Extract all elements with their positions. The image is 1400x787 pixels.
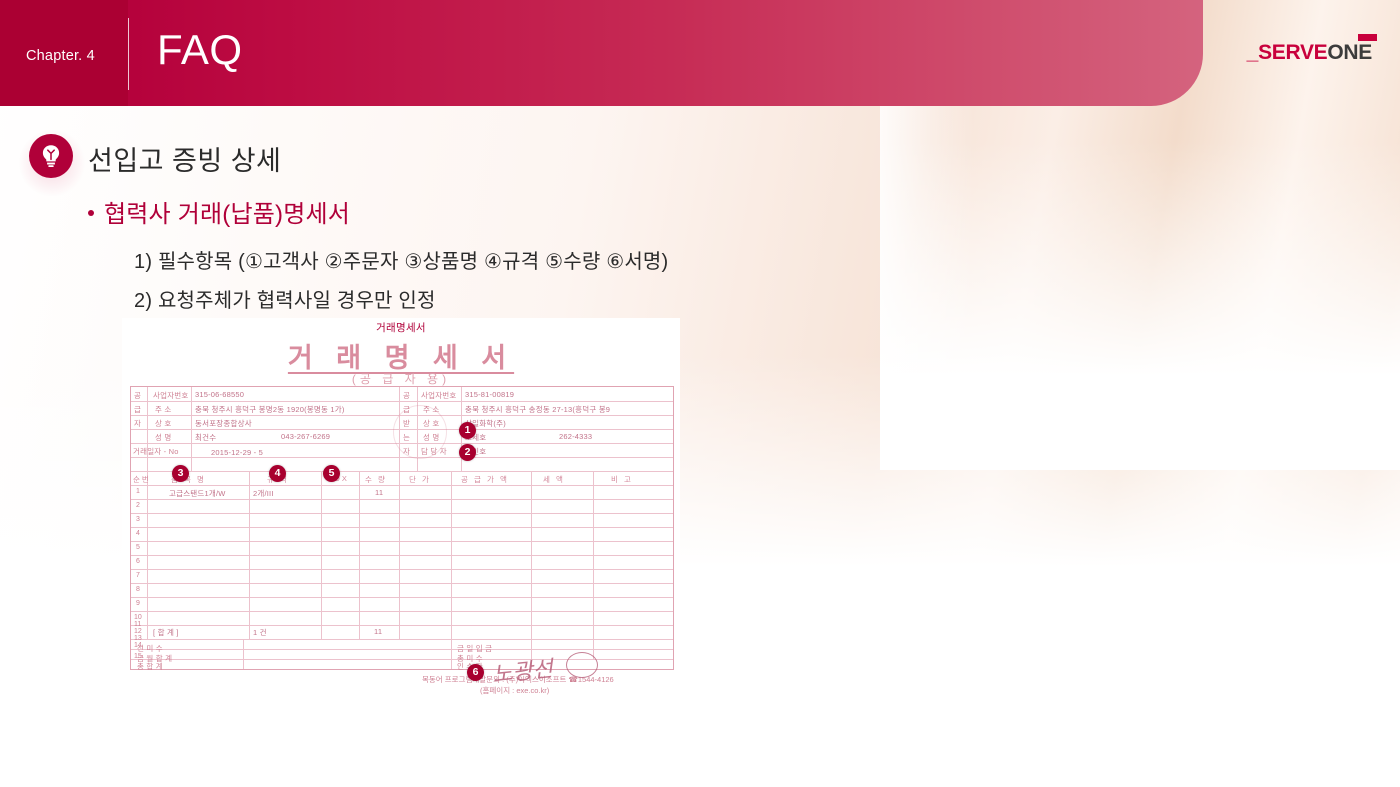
logo-underscore: _ — [1247, 41, 1258, 64]
transaction-statement-image: 거래명세서 거 래 명 세 서 (공 급 자 용) — [122, 318, 680, 716]
sub-item-condition: 2) 요청주체가 협력사일 경우만 인정 — [134, 284, 436, 313]
bullet-label: 협력사 거래(납품)명세서 — [104, 194, 350, 229]
signature-seal-icon — [566, 652, 598, 678]
marker-6-signature: 6 — [467, 664, 484, 681]
header-divider — [128, 18, 129, 90]
marker-1-customer-company: 1 — [459, 422, 476, 439]
marker-3-product-name: 3 — [172, 465, 189, 482]
bullet-dot-icon — [88, 210, 94, 216]
section-title: 선입고 증빙 상세 — [88, 139, 281, 178]
lightbulb-icon — [29, 134, 73, 178]
doc-stamp-icon — [393, 405, 447, 459]
logo-serve: SERVE — [1258, 41, 1327, 64]
lightbulb-circle — [29, 134, 73, 178]
slide-root: Chapter. 4 FAQ _SERVEONE 선입고 증빙 상세 협력사 거… — [0, 0, 1400, 787]
header-band: Chapter. 4 FAQ — [0, 0, 1203, 106]
logo-one: ONE — [1327, 41, 1372, 64]
doc-caption: 거래명세서 — [122, 320, 680, 335]
marker-5-quantity: 5 — [323, 465, 340, 482]
sub-item-required-fields: 1) 필수항목 (①고객사 ②주문자 ③상품명 ④규격 ⑤수량 ⑥서명) — [134, 245, 668, 274]
bullet-item: 협력사 거래(납품)명세서 — [88, 194, 350, 229]
handwritten-signature: 노광선 — [490, 651, 554, 689]
lightbulb-glyph — [40, 144, 62, 168]
doc-table: 공 급 자 사업자번호 주 소 상 호 성 명 거래일자 - No 315-06… — [130, 386, 674, 670]
marker-2-orderer: 2 — [459, 444, 476, 461]
doc-footer-line2: (홈페이지 : exe.co.kr) — [422, 685, 614, 696]
marker-4-specification: 4 — [269, 465, 286, 482]
page-title: FAQ — [157, 29, 243, 71]
serveone-logo: _SERVEONE — [1247, 42, 1372, 63]
doc-subtitle: (공 급 자 용) — [122, 370, 680, 387]
logo-accent-bar — [1358, 34, 1377, 41]
chapter-label: Chapter. 4 — [26, 48, 95, 64]
